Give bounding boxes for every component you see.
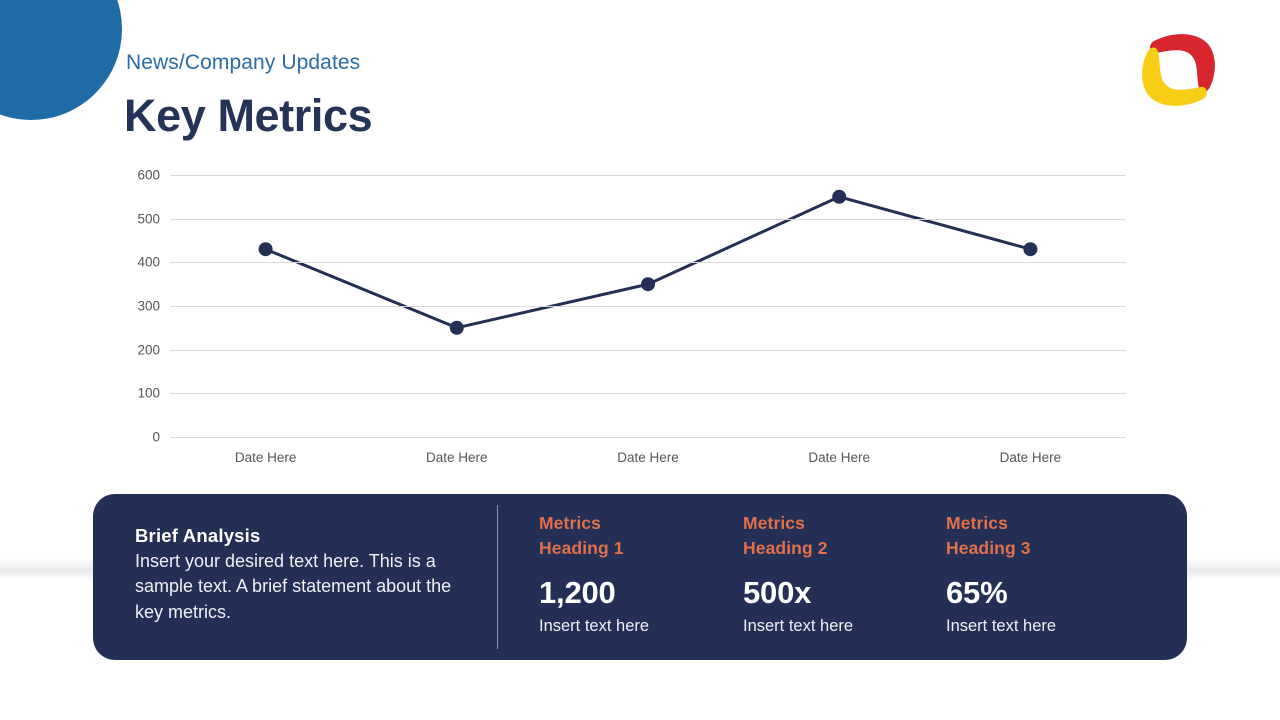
chart-data-point — [832, 190, 846, 204]
x-axis-tick-label: Date Here — [235, 450, 297, 465]
panel-divider — [497, 505, 498, 649]
metric-card-3: Metrics Heading 3 65% Insert text here — [946, 511, 1146, 638]
chart-gridline — [170, 437, 1126, 438]
metric-value-1: 1,200 — [539, 574, 739, 613]
chart-gridline — [170, 262, 1126, 263]
metrics-panel: Brief Analysis Insert your desired text … — [93, 494, 1187, 660]
metric-card-2: Metrics Heading 2 500x Insert text here — [743, 511, 943, 638]
chart-gridline — [170, 175, 1126, 176]
metric-heading-2-line1: Metrics — [743, 511, 943, 536]
chart-gridline — [170, 306, 1126, 307]
metric-caption-1: Insert text here — [539, 616, 739, 637]
chart-gridline — [170, 219, 1126, 220]
metric-heading-1-line1: Metrics — [539, 511, 739, 536]
y-axis-tick-label: 100 — [137, 386, 160, 401]
chart-data-point — [1023, 242, 1037, 256]
metric-heading-1: Metrics Heading 1 — [539, 511, 739, 561]
y-axis-tick-label: 600 — [137, 168, 160, 183]
metric-caption-2: Insert text here — [743, 616, 943, 637]
x-axis-tick-label: Date Here — [617, 450, 679, 465]
key-metrics-line-chart: 6005004003002001000 Date HereDate HereDa… — [126, 175, 1126, 475]
brief-analysis-body: Insert your desired text here. This is a… — [135, 549, 475, 625]
metric-heading-1-line2: Heading 1 — [539, 536, 739, 561]
chart-data-point — [259, 242, 273, 256]
x-axis-tick-label: Date Here — [1000, 450, 1062, 465]
chart-data-point — [641, 277, 655, 291]
y-axis-tick-label: 200 — [137, 342, 160, 357]
metric-heading-3: Metrics Heading 3 — [946, 511, 1146, 561]
metric-value-3: 65% — [946, 574, 1146, 613]
chart-data-point — [450, 321, 464, 335]
metric-heading-3-line2: Heading 3 — [946, 536, 1146, 561]
eyebrow-label: News/Company Updates — [126, 50, 360, 75]
y-axis-tick-label: 500 — [137, 211, 160, 226]
metric-value-2: 500x — [743, 574, 943, 613]
metric-card-1: Metrics Heading 1 1,200 Insert text here — [539, 511, 739, 638]
page-title: Key Metrics — [124, 90, 372, 142]
x-axis-tick-label: Date Here — [808, 450, 870, 465]
metric-heading-2-line2: Heading 2 — [743, 536, 943, 561]
y-axis-tick-label: 0 — [152, 430, 160, 445]
metric-heading-2: Metrics Heading 2 — [743, 511, 943, 561]
metric-caption-3: Insert text here — [946, 616, 1146, 637]
chart-plot-area — [170, 175, 1126, 437]
brief-analysis-block: Brief Analysis Insert your desired text … — [135, 525, 475, 625]
decorative-blue-circle — [0, 0, 122, 120]
chart-gridline — [170, 393, 1126, 394]
chart-gridline — [170, 350, 1126, 351]
y-axis-tick-label: 400 — [137, 255, 160, 270]
y-axis-tick-label: 300 — [137, 299, 160, 314]
brand-logo-icon — [1137, 29, 1219, 111]
metric-heading-3-line1: Metrics — [946, 511, 1146, 536]
brief-analysis-title: Brief Analysis — [135, 525, 475, 547]
x-axis-tick-label: Date Here — [426, 450, 488, 465]
